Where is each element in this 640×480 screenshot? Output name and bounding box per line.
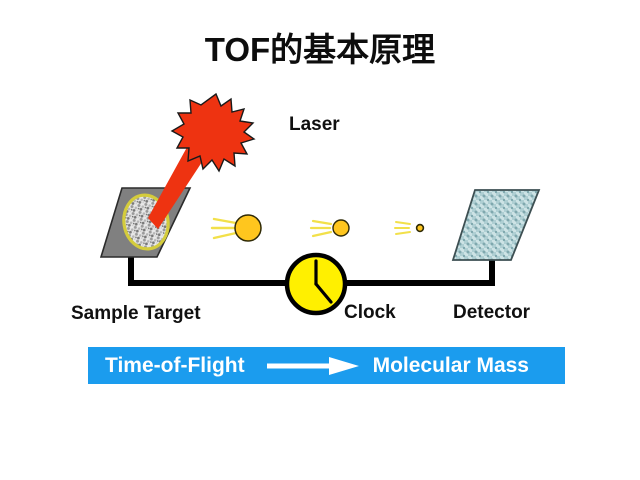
detector-plate-icon [453,190,539,260]
summary-banner: Time-of-Flight Molecular Mass [88,347,565,384]
banner-left-text: Time-of-Flight [105,354,245,378]
label-sample-target: Sample Target [71,303,201,325]
label-laser: Laser [289,114,340,136]
clock-icon [287,255,345,313]
label-detector: Detector [453,302,530,324]
banner-right-text: Molecular Mass [373,354,529,378]
tof-diagram-slide: TOF的基本原理 [0,0,640,480]
ion-particle-small [395,222,423,234]
label-clock: Clock [344,302,396,324]
ion-particle-medium [311,220,349,236]
diagram-scene [0,0,640,480]
right-arrow-icon [267,356,359,376]
ion-particle-large [212,215,261,241]
